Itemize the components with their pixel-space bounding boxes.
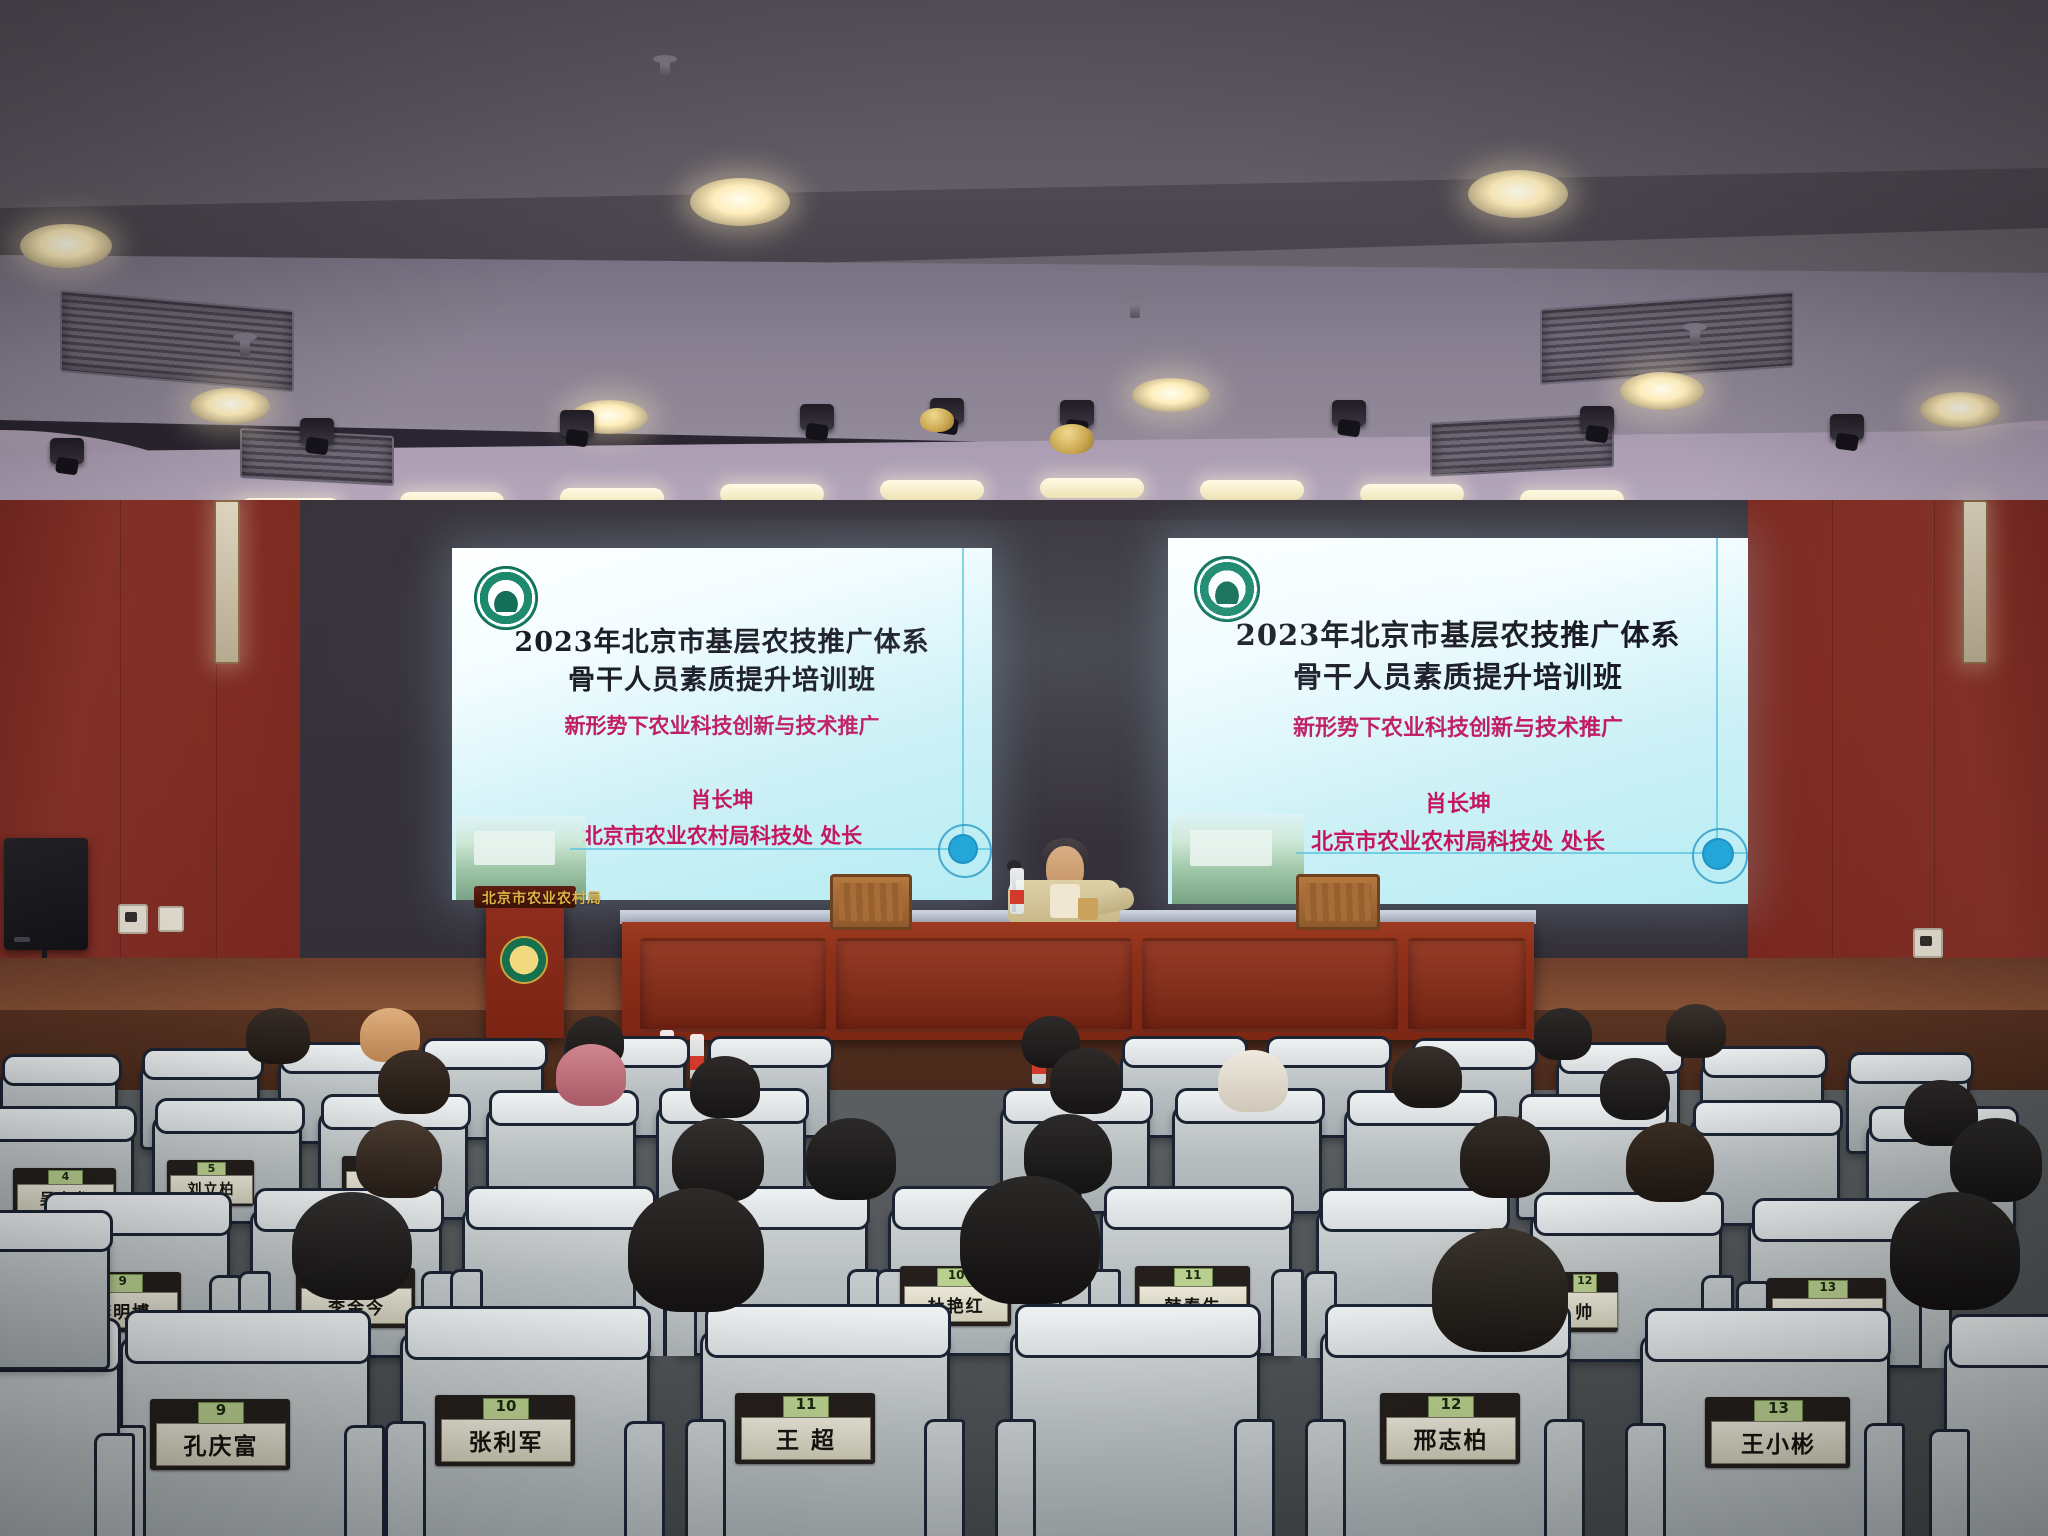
slide-title-line-1: 2023年北京市基层农技推广体系 bbox=[452, 620, 992, 659]
soffit-strip-lamp bbox=[880, 480, 984, 500]
audience-person bbox=[1798, 1008, 1856, 1060]
slide-speaker-name: 肖长坤 bbox=[452, 784, 992, 814]
chair-headrest bbox=[155, 1098, 305, 1134]
person-hair bbox=[1460, 1116, 1550, 1198]
audience-person bbox=[690, 1056, 760, 1118]
audience-person bbox=[356, 1120, 442, 1198]
campus-photo-thumbnail bbox=[1172, 814, 1304, 904]
wall-power-outlet[interactable] bbox=[118, 904, 148, 934]
ceiling-dome-camera bbox=[1050, 424, 1094, 454]
audience-person bbox=[1534, 1008, 1592, 1060]
audience-person bbox=[1666, 1004, 1726, 1058]
slide-decor-line-horizontal bbox=[570, 848, 990, 850]
dais-front-panel bbox=[640, 938, 826, 1032]
seated-presenter-shirt bbox=[1050, 884, 1080, 918]
chair-headrest bbox=[0, 1210, 113, 1252]
soffit-strip-lamp bbox=[1040, 478, 1144, 498]
track-spotlight bbox=[300, 418, 334, 444]
seat-occupant-name: 王 超 bbox=[741, 1417, 872, 1460]
person-hair bbox=[1950, 1118, 2042, 1202]
audience-person bbox=[1950, 1118, 2042, 1202]
person-hair bbox=[1626, 1122, 1714, 1202]
audience-person bbox=[1460, 1116, 1550, 1198]
audience-person bbox=[378, 1050, 450, 1114]
recessed-ceiling-downlight bbox=[1620, 372, 1704, 410]
person-hair bbox=[1890, 1192, 2020, 1310]
chair-armrest-left bbox=[685, 1419, 726, 1536]
track-spotlight bbox=[1332, 400, 1366, 426]
chair-armrest-right bbox=[1271, 1269, 1304, 1356]
person-hair bbox=[1798, 1008, 1856, 1060]
tea-cup bbox=[1078, 898, 1098, 920]
audience-chair[interactable] bbox=[0, 1344, 120, 1536]
chair-headrest bbox=[1693, 1100, 1843, 1136]
person-hair bbox=[1218, 1050, 1288, 1112]
chair-armrest-right bbox=[1544, 1419, 1585, 1536]
speaker-badge bbox=[14, 937, 30, 942]
audience-chair[interactable] bbox=[1010, 1330, 1260, 1536]
person-hair bbox=[556, 1044, 626, 1106]
chair-headrest bbox=[1949, 1314, 2048, 1368]
audience-chair[interactable]: 10 张利军 bbox=[400, 1332, 650, 1536]
chair-armrest-left bbox=[1929, 1429, 1970, 1536]
slide-title-line-2: 骨干人员素质提升培训班 bbox=[452, 658, 992, 697]
fire-sprinkler-head bbox=[240, 338, 250, 356]
agency-emblem bbox=[502, 938, 546, 982]
seat-occupant-name: 孔庆富 bbox=[156, 1423, 287, 1466]
audience-chair[interactable]: 11 王 超 bbox=[700, 1330, 950, 1536]
audience-person bbox=[628, 1188, 764, 1312]
slide-subtitle: 新形势下农业科技创新与技术推广 bbox=[1168, 710, 1748, 742]
person-hair bbox=[292, 1192, 412, 1300]
pa-loudspeaker bbox=[4, 838, 88, 950]
seat-nameplate: 9 孔庆富 bbox=[150, 1399, 290, 1470]
chair-armrest-left bbox=[1625, 1423, 1666, 1536]
slide-title-line-2: 骨干人员素质提升培训班 bbox=[1168, 654, 1748, 696]
slide-decor-dot bbox=[1704, 840, 1732, 868]
projection-screen-right: 2023年北京市基层农技推广体系 骨干人员素质提升培训班 新形势下农业科技创新与… bbox=[1168, 538, 1748, 904]
chair-armrest-right bbox=[1234, 1419, 1275, 1536]
track-spotlight bbox=[1580, 406, 1614, 432]
person-hair bbox=[806, 1118, 896, 1200]
chair-armrest-left bbox=[1305, 1419, 1346, 1536]
seat-occupant-name: 王小彬 bbox=[1711, 1421, 1846, 1464]
wall-power-outlet[interactable] bbox=[158, 906, 184, 932]
person-hair bbox=[246, 1008, 310, 1064]
person-hair bbox=[690, 1056, 760, 1118]
person-hair bbox=[1392, 1046, 1462, 1108]
person-hair bbox=[356, 1120, 442, 1198]
slide-decor-line-vertical bbox=[962, 548, 964, 850]
seat-nameplate: 11 王 超 bbox=[735, 1393, 875, 1464]
track-spotlight bbox=[50, 438, 84, 464]
chair-headrest bbox=[1645, 1308, 1891, 1362]
audience-person bbox=[1392, 1046, 1462, 1108]
chair-back bbox=[1010, 1330, 1260, 1536]
chair-headrest bbox=[125, 1310, 371, 1364]
wall-light-sconce bbox=[1962, 500, 1988, 664]
person-hair bbox=[1534, 1008, 1592, 1060]
chair-armrest-right bbox=[1864, 1423, 1905, 1536]
audience-chair[interactable]: 12 邢志柏 bbox=[1320, 1330, 1570, 1536]
track-spotlight bbox=[1830, 414, 1864, 440]
audience-person bbox=[246, 1008, 310, 1064]
recessed-ceiling-downlight bbox=[1132, 378, 1210, 412]
chair-headrest bbox=[1015, 1304, 1261, 1358]
recessed-ceiling-downlight bbox=[1920, 392, 2000, 428]
audience-person bbox=[806, 1118, 896, 1200]
audience-chair[interactable]: 9 孔庆富 bbox=[120, 1336, 370, 1536]
recessed-ceiling-downlight bbox=[690, 178, 790, 226]
track-spotlight bbox=[1060, 400, 1094, 426]
person-hair bbox=[1432, 1228, 1568, 1352]
conference-hall-photo: 2023年北京市基层农技推广体系 骨干人员素质提升培训班 新形势下农业科技创新与… bbox=[0, 0, 2048, 1536]
audience-person bbox=[960, 1176, 1100, 1304]
person-hair bbox=[1050, 1048, 1122, 1114]
seat-nameplate: 10 张利军 bbox=[435, 1395, 575, 1466]
recessed-ceiling-downlight bbox=[20, 224, 112, 268]
chair-armrest-right bbox=[924, 1419, 965, 1536]
recessed-ceiling-downlight bbox=[1468, 170, 1568, 218]
audience-chair[interactable] bbox=[1944, 1340, 2048, 1536]
chair-armrest-right bbox=[624, 1421, 665, 1536]
lectern-banner-text: 北京市农业农村局 bbox=[482, 888, 602, 908]
fire-sprinkler-head bbox=[660, 60, 670, 78]
slide-decor-line-horizontal bbox=[1296, 852, 1746, 854]
audience-person bbox=[1890, 1192, 2020, 1310]
projection-screen-left: 2023年北京市基层农技推广体系 骨干人员素质提升培训班 新形势下农业科技创新与… bbox=[452, 548, 992, 900]
slide-subtitle: 新形势下农业科技创新与技术推广 bbox=[452, 710, 992, 740]
audience-chair[interactable]: 13 王小彬 bbox=[1640, 1334, 1890, 1536]
fire-sprinkler-head bbox=[1690, 328, 1700, 346]
audience-person bbox=[1432, 1228, 1568, 1352]
audience-person bbox=[292, 1192, 412, 1300]
audience-person bbox=[556, 1044, 626, 1106]
audience-person bbox=[1218, 1050, 1288, 1112]
side-wall-right-red-panel bbox=[1748, 500, 2048, 1020]
audience-person bbox=[1600, 1058, 1670, 1120]
chair-headrest bbox=[1104, 1186, 1294, 1230]
ceiling-dome-camera bbox=[920, 408, 954, 432]
chair-headrest bbox=[705, 1304, 951, 1358]
seat-nameplate: 12 邢志柏 bbox=[1380, 1393, 1520, 1464]
chair-armrest-right bbox=[344, 1425, 385, 1536]
seat-occupant-name: 邢志柏 bbox=[1386, 1417, 1517, 1460]
dais-front-panel bbox=[836, 938, 1132, 1032]
seat-occupant-name: 张利军 bbox=[441, 1419, 572, 1462]
chair-headrest bbox=[0, 1106, 137, 1142]
person-hair bbox=[1600, 1058, 1670, 1120]
slide-decor-dot bbox=[950, 836, 976, 862]
person-hair bbox=[378, 1050, 450, 1114]
fire-sprinkler-head bbox=[1130, 300, 1140, 318]
seat-nameplate: 13 王小彬 bbox=[1705, 1397, 1850, 1468]
chair-headrest bbox=[2, 1054, 121, 1086]
recessed-ceiling-downlight bbox=[190, 388, 270, 424]
stage-chair bbox=[830, 874, 912, 930]
chair-headrest bbox=[405, 1306, 651, 1360]
slide-title-line-1: 2023年北京市基层农技推广体系 bbox=[1168, 612, 1748, 654]
dais-front-panel bbox=[1408, 938, 1526, 1032]
wall-light-sconce bbox=[214, 500, 240, 664]
chair-armrest-right bbox=[94, 1433, 135, 1536]
audience-chair[interactable] bbox=[0, 1230, 110, 1370]
soffit-strip-lamp bbox=[1200, 480, 1304, 500]
wall-power-outlet[interactable] bbox=[1913, 928, 1943, 958]
person-hair bbox=[1666, 1004, 1726, 1058]
audience-person bbox=[1626, 1122, 1714, 1202]
dais-front-panel bbox=[1142, 938, 1398, 1032]
person-hair bbox=[960, 1176, 1100, 1304]
track-spotlight bbox=[800, 404, 834, 430]
chair-armrest-left bbox=[995, 1419, 1036, 1536]
chair-armrest-left bbox=[385, 1421, 426, 1536]
slide-decor-line-vertical bbox=[1716, 538, 1718, 854]
audience-person bbox=[1050, 1048, 1122, 1114]
water-bottle bbox=[1010, 868, 1024, 914]
stage-chair bbox=[1296, 874, 1380, 930]
person-hair bbox=[628, 1188, 764, 1312]
track-spotlight bbox=[560, 410, 594, 436]
